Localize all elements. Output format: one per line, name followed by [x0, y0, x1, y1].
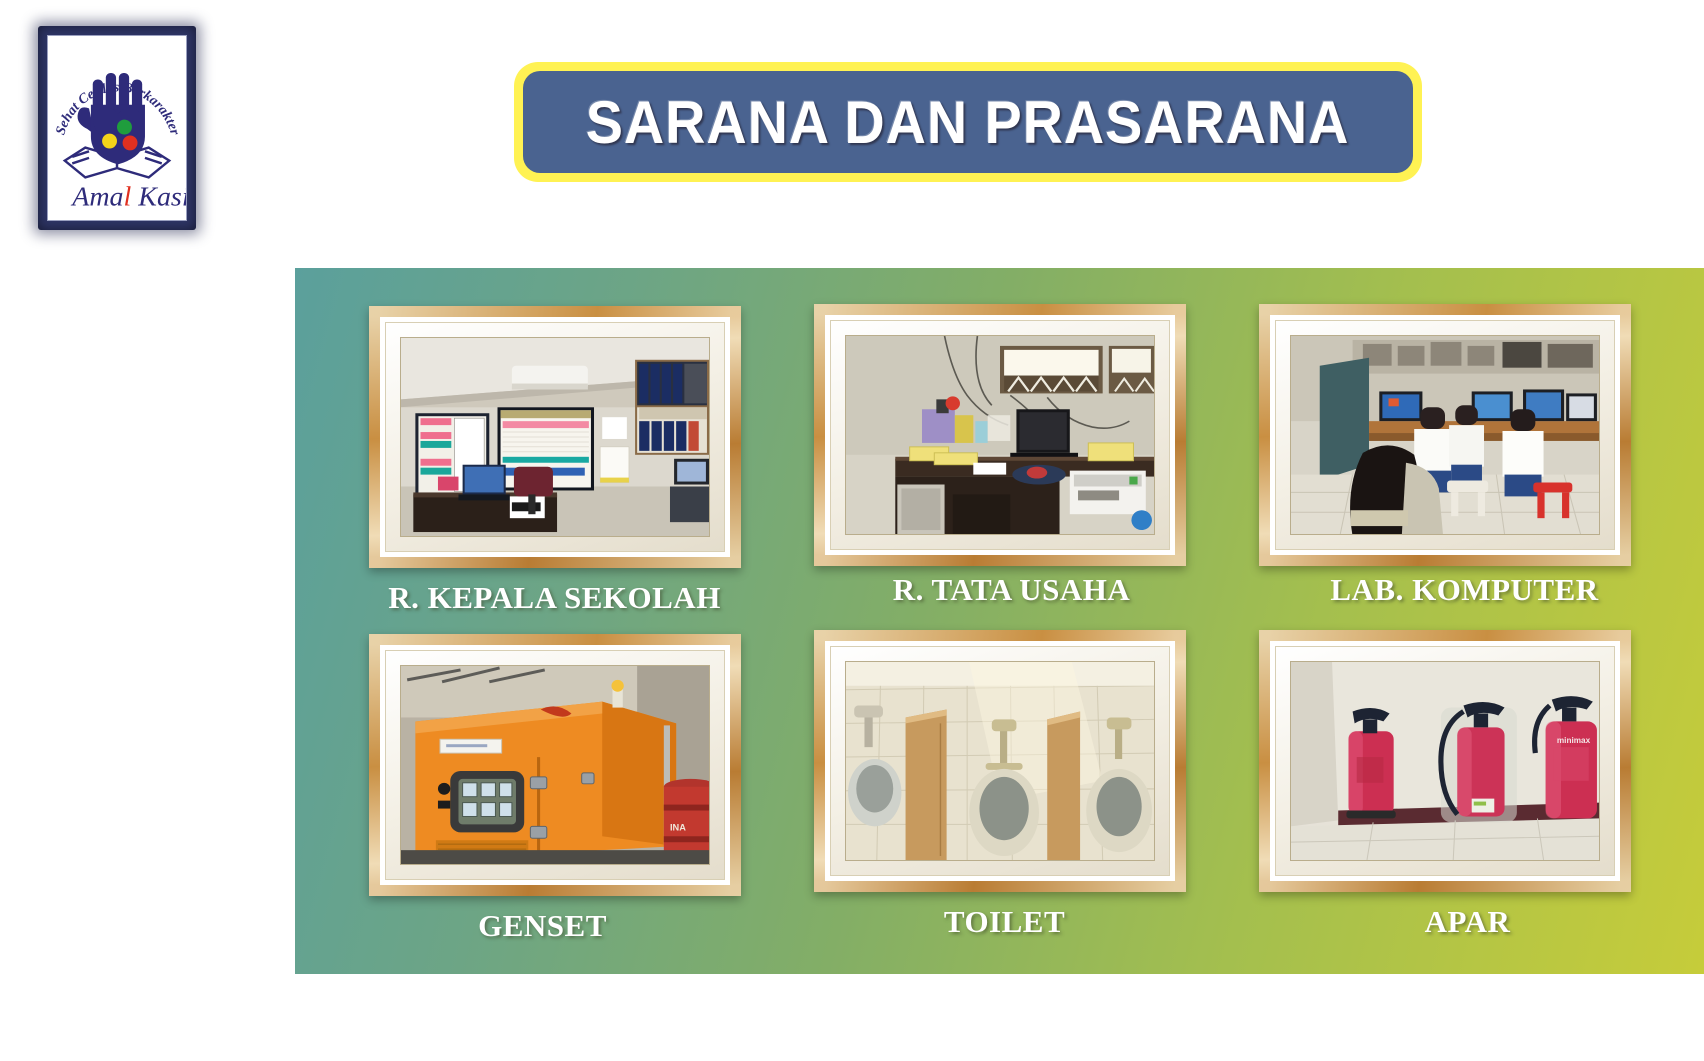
photo-frame: minimax: [1259, 630, 1631, 892]
logo-dot-green: [117, 120, 132, 135]
photo-frame: [814, 630, 1186, 892]
gallery-item[interactable]: LAB. KOMPUTER: [1231, 306, 1658, 626]
photo-mat: [1275, 320, 1615, 550]
generator-photo: INA: [400, 665, 710, 865]
photo-mat: [830, 320, 1170, 550]
gallery-item[interactable]: minimax APAR: [1231, 630, 1658, 950]
photo-frame: [814, 304, 1186, 566]
admin-office-photo: [845, 335, 1155, 535]
page-title: SARANA DAN PRASARANA: [586, 88, 1350, 157]
fire-extinguisher-photo: minimax: [1290, 661, 1600, 861]
gallery-grid: R. KEPALA SEKOLAH: [295, 268, 1704, 974]
principal-office-photo: [400, 337, 710, 537]
gallery-item-caption: LAB. KOMPUTER: [1330, 572, 1598, 608]
gallery-item[interactable]: R. KEPALA SEKOLAH: [341, 306, 768, 626]
photo-frame: [1259, 304, 1631, 566]
gallery-panel: R. KEPALA SEKOLAH: [295, 268, 1704, 974]
logo-artwork-icon: Sehat Cerdas Berkarakter: [48, 36, 186, 220]
computer-lab-photo: [1290, 335, 1600, 535]
gallery-item-caption: GENSET: [478, 908, 607, 944]
photo-frame: [369, 306, 741, 568]
photo-frame: INA: [369, 634, 741, 896]
svg-text:INA: INA: [669, 822, 685, 832]
gallery-item-caption: TOILET: [944, 904, 1065, 940]
gallery-item-caption: APAR: [1425, 904, 1511, 940]
gallery-item[interactable]: INA GENSET: [341, 630, 768, 950]
school-logo: Sehat Cerdas Berkarakter: [34, 22, 200, 234]
photo-mat: [385, 322, 725, 552]
logo-inner-card: Sehat Cerdas Berkarakter: [47, 35, 187, 221]
gallery-item[interactable]: TOILET: [786, 630, 1213, 950]
slide-title-banner: SARANA DAN PRASARANA: [514, 62, 1422, 182]
gallery-item[interactable]: R. TATA USAHA: [786, 306, 1213, 626]
logo-name-text: Amal Kasih: [70, 181, 186, 212]
toilet-photo: [845, 661, 1155, 861]
photo-mat: INA: [385, 650, 725, 880]
logo-plate: Sehat Cerdas Berkarakter: [38, 26, 196, 230]
logo-dot-yellow: [102, 134, 117, 149]
photo-mat: minimax: [1275, 646, 1615, 876]
svg-text:minimax: minimax: [1556, 736, 1590, 745]
gallery-item-caption: R. TATA USAHA: [893, 572, 1131, 608]
logo-dot-red: [123, 135, 138, 150]
photo-mat: [830, 646, 1170, 876]
gallery-item-caption: R. KEPALA SEKOLAH: [388, 580, 721, 616]
slide-title-inner: SARANA DAN PRASARANA: [523, 71, 1413, 173]
